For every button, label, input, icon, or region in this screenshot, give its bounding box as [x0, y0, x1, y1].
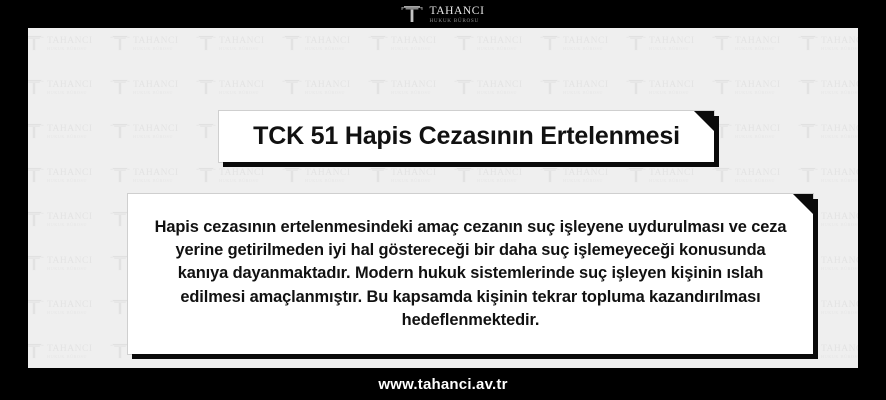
watermark-tile: TAHANCIHUKUK BÜROSU — [282, 66, 368, 110]
folded-corner-icon — [694, 111, 714, 131]
column-pillar-icon — [540, 33, 560, 56]
column-pillar-icon — [798, 77, 818, 100]
watermark-subtitle: HUKUK BÜROSU — [133, 179, 179, 183]
column-pillar-icon — [712, 165, 732, 188]
watermark-tile: TAHANCIHUKUK BÜROSU — [282, 28, 368, 66]
watermark-tile: TAHANCIHUKUK BÜROSU — [110, 154, 196, 198]
body-paragraph: Hapis cezasının ertelenmesindeki amaç ce… — [154, 216, 787, 332]
watermark-name: TAHANCI — [219, 81, 265, 91]
watermark-tile: TAHANCIHUKUK BÜROSU — [28, 286, 110, 330]
watermark-name: TAHANCI — [477, 169, 523, 179]
watermark-name: TAHANCI — [133, 81, 179, 91]
column-pillar-icon — [196, 77, 216, 100]
watermark-tile: TAHANCIHUKUK BÜROSU — [28, 330, 110, 368]
watermark-subtitle: HUKUK BÜROSU — [47, 355, 93, 359]
column-pillar-icon — [454, 33, 474, 56]
watermark-tile: TAHANCIHUKUK BÜROSU — [454, 66, 540, 110]
watermark-name: TAHANCI — [563, 37, 609, 47]
watermark-name: TAHANCI — [821, 257, 858, 267]
watermark-name: TAHANCI — [821, 169, 858, 179]
watermark-subtitle: HUKUK BÜROSU — [305, 179, 351, 183]
column-pillar-icon — [368, 77, 388, 100]
watermark-tile: TAHANCIHUKUK BÜROSU — [454, 28, 540, 66]
column-pillar-icon — [28, 165, 44, 188]
watermark-tile: TAHANCIHUKUK BÜROSU — [110, 66, 196, 110]
column-pillar-icon — [626, 33, 646, 56]
watermark-name: TAHANCI — [47, 345, 93, 355]
watermark-subtitle: HUKUK BÜROSU — [821, 91, 858, 95]
column-pillar-icon — [368, 33, 388, 56]
watermark-subtitle: HUKUK BÜROSU — [47, 135, 93, 139]
watermark-name: TAHANCI — [735, 125, 781, 135]
watermark-subtitle: HUKUK BÜROSU — [477, 47, 523, 51]
watermark-subtitle: HUKUK BÜROSU — [821, 355, 858, 359]
watermark-tile: TAHANCIHUKUK BÜROSU — [368, 66, 454, 110]
watermark-subtitle: HUKUK BÜROSU — [391, 179, 437, 183]
watermark-name: TAHANCI — [821, 125, 858, 135]
watermark-name: TAHANCI — [133, 37, 179, 47]
watermark-subtitle: HUKUK BÜROSU — [47, 311, 93, 315]
column-pillar-icon — [28, 341, 44, 364]
watermark-tile: TAHANCIHUKUK BÜROSU — [28, 66, 110, 110]
watermark-name: TAHANCI — [735, 37, 781, 47]
watermark-name: TAHANCI — [477, 81, 523, 91]
watermark-subtitle: HUKUK BÜROSU — [735, 135, 781, 139]
watermark-subtitle: HUKUK BÜROSU — [133, 47, 179, 51]
watermark-subtitle: HUKUK BÜROSU — [563, 179, 609, 183]
column-pillar-icon — [712, 77, 732, 100]
watermark-subtitle: HUKUK BÜROSU — [649, 91, 695, 95]
watermark-tile: TAHANCIHUKUK BÜROSU — [28, 242, 110, 286]
watermark-subtitle: HUKUK BÜROSU — [477, 179, 523, 183]
watermark-name: TAHANCI — [47, 169, 93, 179]
brand-wordmark: TAHANCI HUKUK BÜROSU — [429, 6, 484, 24]
watermark-tile: TAHANCIHUKUK BÜROSU — [110, 110, 196, 154]
watermark-subtitle: HUKUK BÜROSU — [821, 223, 858, 227]
watermark-tile: TAHANCIHUKUK BÜROSU — [712, 110, 798, 154]
watermark-tile: TAHANCIHUKUK BÜROSU — [798, 66, 858, 110]
watermark-name: TAHANCI — [563, 81, 609, 91]
watermark-name: TAHANCI — [219, 169, 265, 179]
watermark-subtitle: HUKUK BÜROSU — [735, 91, 781, 95]
watermark-subtitle: HUKUK BÜROSU — [133, 91, 179, 95]
watermark-tile: TAHANCIHUKUK BÜROSU — [196, 66, 282, 110]
watermark-name: TAHANCI — [649, 169, 695, 179]
watermark-subtitle: HUKUK BÜROSU — [391, 47, 437, 51]
column-pillar-icon — [368, 165, 388, 188]
column-pillar-icon — [282, 77, 302, 100]
watermark-name: TAHANCI — [305, 169, 351, 179]
watermark-tile: TAHANCIHUKUK BÜROSU — [626, 66, 712, 110]
watermark-name: TAHANCI — [133, 125, 179, 135]
watermark-tile: TAHANCIHUKUK BÜROSU — [712, 28, 798, 66]
watermark-tile: TAHANCIHUKUK BÜROSU — [712, 66, 798, 110]
column-pillar-icon — [110, 33, 130, 56]
watermark-subtitle: HUKUK BÜROSU — [649, 47, 695, 51]
page-title: TCK 51 Hapis Cezasının Ertelenmesi — [253, 122, 680, 151]
website-url[interactable]: www.tahanci.av.tr — [378, 376, 507, 393]
brand-name: TAHANCI — [429, 6, 484, 18]
watermark-name: TAHANCI — [305, 37, 351, 47]
watermark-subtitle: HUKUK BÜROSU — [563, 91, 609, 95]
watermark-subtitle: HUKUK BÜROSU — [47, 47, 93, 51]
content-area: TAHANCIHUKUK BÜROSUTAHANCIHUKUK BÜROSUTA… — [28, 28, 858, 368]
watermark-name: TAHANCI — [133, 169, 179, 179]
watermark-tile: TAHANCIHUKUK BÜROSU — [28, 110, 110, 154]
watermark-name: TAHANCI — [47, 125, 93, 135]
watermark-tile: TAHANCIHUKUK BÜROSU — [626, 28, 712, 66]
watermark-subtitle: HUKUK BÜROSU — [821, 267, 858, 271]
watermark-subtitle: HUKUK BÜROSU — [47, 91, 93, 95]
column-pillar-icon — [28, 33, 44, 56]
column-pillar-icon — [196, 33, 216, 56]
watermark-tile: TAHANCIHUKUK BÜROSU — [712, 154, 798, 198]
watermark-subtitle: HUKUK BÜROSU — [821, 179, 858, 183]
column-pillar-icon — [282, 33, 302, 56]
watermark-tile: TAHANCIHUKUK BÜROSU — [28, 28, 110, 66]
watermark-subtitle: HUKUK BÜROSU — [821, 47, 858, 51]
column-pillar-icon — [28, 297, 44, 320]
watermark-subtitle: HUKUK BÜROSU — [735, 179, 781, 183]
watermark-name: TAHANCI — [47, 257, 93, 267]
watermark-subtitle: HUKUK BÜROSU — [47, 179, 93, 183]
column-pillar-icon — [196, 121, 216, 144]
watermark-subtitle: HUKUK BÜROSU — [821, 135, 858, 139]
watermark-name: TAHANCI — [305, 81, 351, 91]
column-pillar-icon — [28, 209, 44, 232]
column-pillar-icon — [196, 165, 216, 188]
watermark-name: TAHANCI — [47, 301, 93, 311]
watermark-name: TAHANCI — [649, 37, 695, 47]
watermark-name: TAHANCI — [391, 37, 437, 47]
watermark-subtitle: HUKUK BÜROSU — [821, 311, 858, 315]
column-pillar-icon — [798, 33, 818, 56]
watermark-subtitle: HUKUK BÜROSU — [391, 91, 437, 95]
column-pillar-icon — [401, 3, 423, 28]
column-pillar-icon — [110, 77, 130, 100]
column-pillar-icon — [110, 121, 130, 144]
watermark-name: TAHANCI — [47, 37, 93, 47]
brand-subtitle: HUKUK BÜROSU — [429, 19, 478, 24]
watermark-subtitle: HUKUK BÜROSU — [219, 47, 265, 51]
column-pillar-icon — [28, 121, 44, 144]
watermark-subtitle: HUKUK BÜROSU — [133, 135, 179, 139]
watermark-subtitle: HUKUK BÜROSU — [47, 267, 93, 271]
watermark-subtitle: HUKUK BÜROSU — [305, 47, 351, 51]
title-card: TCK 51 Hapis Cezasının Ertelenmesi — [218, 110, 715, 163]
watermark-tile: TAHANCIHUKUK BÜROSU — [540, 66, 626, 110]
watermark-name: TAHANCI — [391, 81, 437, 91]
column-pillar-icon — [798, 121, 818, 144]
watermark-tile: TAHANCIHUKUK BÜROSU — [28, 198, 110, 242]
watermark-tile: TAHANCIHUKUK BÜROSU — [28, 154, 110, 198]
column-pillar-icon — [540, 165, 560, 188]
watermark-subtitle: HUKUK BÜROSU — [649, 179, 695, 183]
watermark-tile: TAHANCIHUKUK BÜROSU — [798, 154, 858, 198]
column-pillar-icon — [28, 77, 44, 100]
watermark-name: TAHANCI — [391, 169, 437, 179]
watermark-name: TAHANCI — [821, 37, 858, 47]
column-pillar-icon — [454, 165, 474, 188]
watermark-subtitle: HUKUK BÜROSU — [305, 91, 351, 95]
watermark-subtitle: HUKUK BÜROSU — [47, 223, 93, 227]
watermark-name: TAHANCI — [47, 81, 93, 91]
watermark-subtitle: HUKUK BÜROSU — [477, 91, 523, 95]
watermark-tile: TAHANCIHUKUK BÜROSU — [368, 28, 454, 66]
watermark-name: TAHANCI — [735, 169, 781, 179]
watermark-tile: TAHANCIHUKUK BÜROSU — [540, 28, 626, 66]
body-card: Hapis cezasının ertelenmesindeki amaç ce… — [127, 193, 814, 355]
watermark-subtitle: HUKUK BÜROSU — [563, 47, 609, 51]
watermark-name: TAHANCI — [821, 301, 858, 311]
watermark-name: TAHANCI — [563, 169, 609, 179]
column-pillar-icon — [110, 165, 130, 188]
watermark-tile: TAHANCIHUKUK BÜROSU — [196, 28, 282, 66]
watermark-tile: TAHANCIHUKUK BÜROSU — [110, 28, 196, 66]
watermark-subtitle: HUKUK BÜROSU — [219, 179, 265, 183]
poster-canvas: TAHANCI HUKUK BÜROSU TAHANCIHUKUK BÜROSU… — [0, 0, 886, 400]
watermark-tile: TAHANCIHUKUK BÜROSU — [798, 28, 858, 66]
watermark-name: TAHANCI — [821, 213, 858, 223]
watermark-subtitle: HUKUK BÜROSU — [735, 47, 781, 51]
watermark-name: TAHANCI — [649, 81, 695, 91]
column-pillar-icon — [28, 253, 44, 276]
watermark-name: TAHANCI — [735, 81, 781, 91]
watermark-name: TAHANCI — [821, 345, 858, 355]
brand-header: TAHANCI HUKUK BÜROSU — [0, 2, 886, 28]
watermark-name: TAHANCI — [219, 37, 265, 47]
column-pillar-icon — [540, 77, 560, 100]
watermark-subtitle: HUKUK BÜROSU — [219, 91, 265, 95]
watermark-name: TAHANCI — [477, 37, 523, 47]
column-pillar-icon — [282, 165, 302, 188]
watermark-name: TAHANCI — [821, 81, 858, 91]
column-pillar-icon — [626, 77, 646, 100]
column-pillar-icon — [798, 165, 818, 188]
watermark-name: TAHANCI — [47, 213, 93, 223]
column-pillar-icon — [454, 77, 474, 100]
column-pillar-icon — [626, 165, 646, 188]
watermark-tile: TAHANCIHUKUK BÜROSU — [798, 110, 858, 154]
column-pillar-icon — [712, 33, 732, 56]
footer-bar: www.tahanci.av.tr — [0, 368, 886, 400]
folded-corner-icon — [793, 194, 813, 214]
